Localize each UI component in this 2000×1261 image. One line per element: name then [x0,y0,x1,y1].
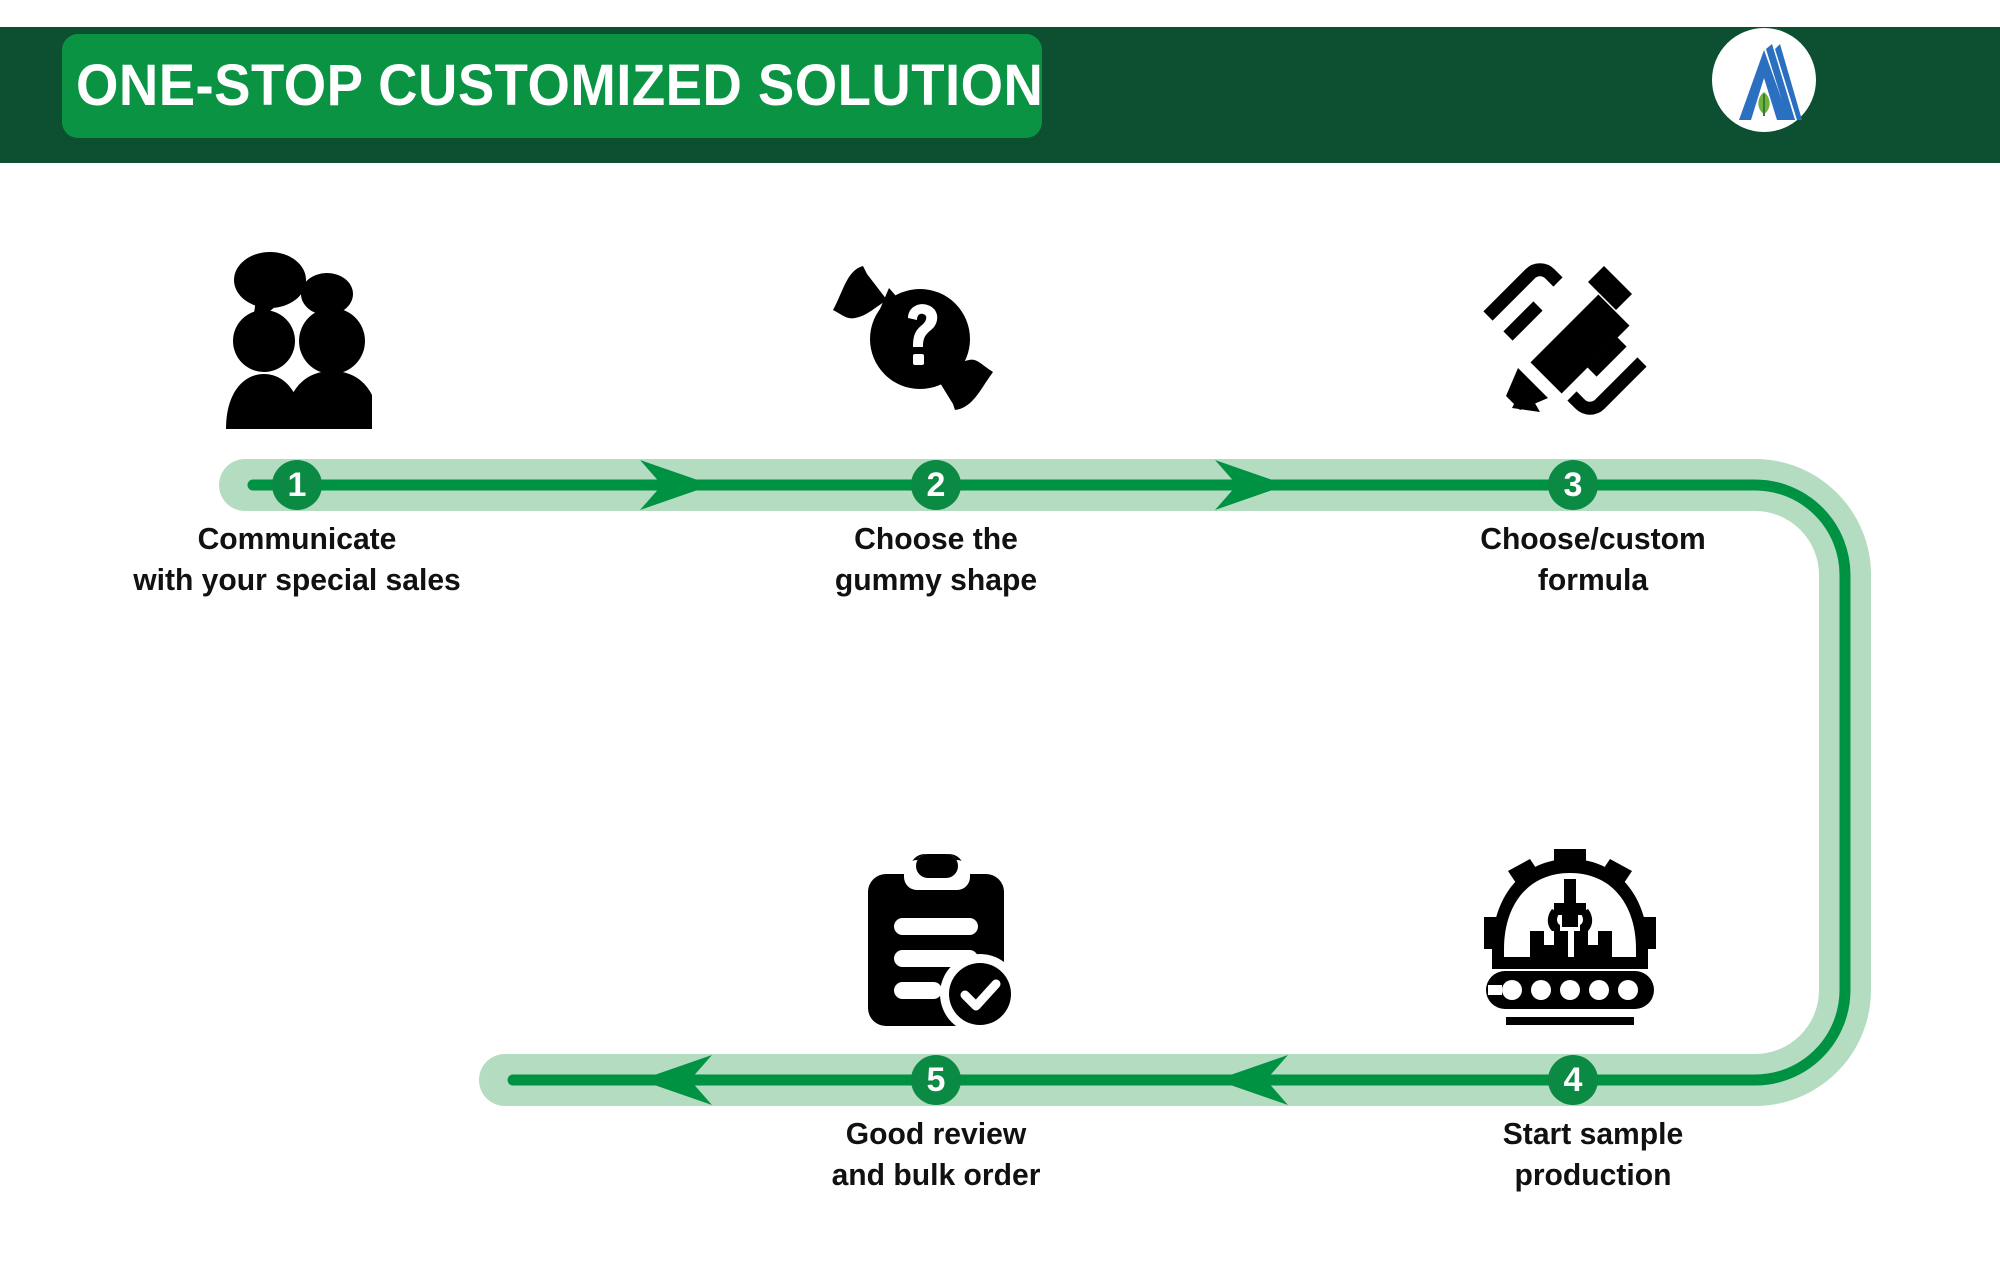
step-badge-5[interactable]: 5 [911,1055,961,1105]
step-badge-2[interactable]: 2 [911,460,961,510]
arrow-right-icon [1215,460,1287,510]
flow-track [0,0,2000,1261]
page-title: ONE-STOP CUSTOMIZED SOLUTION [76,48,969,124]
step-label-1: Communicate with your special sales [45,518,549,600]
step-label-4: Start sample production [1351,1113,1836,1195]
step-label-2: Choose the gummy shape [694,518,1179,600]
arrow-left-icon [640,1055,712,1105]
factory-machine-icon [1480,845,1660,1030]
step-label-5: Good review and bulk order [694,1113,1179,1195]
step-badge-3[interactable]: 3 [1548,460,1598,510]
step-badge-1[interactable]: 1 [272,460,322,510]
candy-question-icon [825,258,1015,420]
step-label-3: Choose/custom formula [1351,518,1836,600]
pencil-design-icon [1480,258,1650,420]
step-badge-4[interactable]: 4 [1548,1055,1598,1105]
people-chat-icon [212,252,372,430]
arrow-left-icon [1216,1055,1288,1105]
clipboard-check-icon [858,852,1018,1030]
arrow-right-icon [640,460,712,510]
company-logo [1712,28,1816,132]
